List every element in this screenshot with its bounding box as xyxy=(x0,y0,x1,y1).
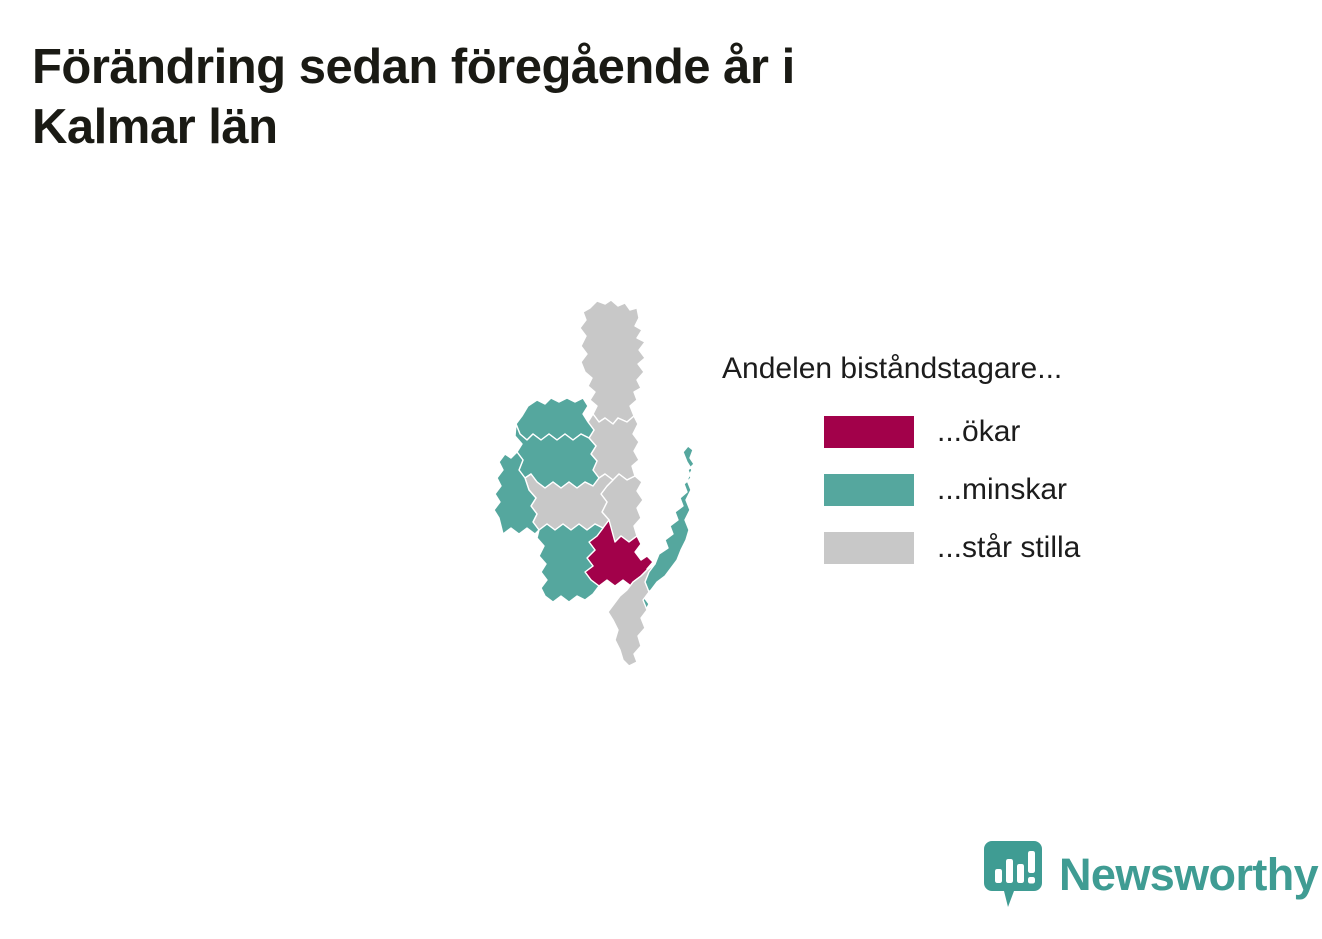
legend-swatch-star-stilla xyxy=(824,532,914,564)
newsworthy-wordmark: Newsworthy xyxy=(1059,852,1318,897)
page-title: Förändring sedan föregående år i Kalmar … xyxy=(32,38,1132,158)
legend-item-minskar[interactable]: ...minskar xyxy=(722,461,1242,519)
map-svg xyxy=(487,288,727,668)
legend-swatch-minskar xyxy=(824,474,914,506)
choropleth-map xyxy=(487,288,727,668)
map-region-vimmerby[interactable] xyxy=(516,398,594,440)
newsworthy-logo[interactable]: Newsworthy xyxy=(984,841,1318,907)
legend-item-okar[interactable]: ...ökar xyxy=(722,403,1242,461)
legend-label-minskar: ...minskar xyxy=(937,475,1067,505)
map-region-nybro[interactable] xyxy=(525,474,613,530)
legend-item-star-stilla[interactable]: ...står stilla xyxy=(722,519,1242,577)
map-legend: Andelen biståndstagare... ...ökar ...min… xyxy=(722,352,1242,577)
map-region-vastervik[interactable] xyxy=(580,300,645,424)
legend-title: Andelen biståndstagare... xyxy=(722,352,1242,385)
legend-swatch-okar xyxy=(824,416,914,448)
legend-label-okar: ...ökar xyxy=(937,417,1020,447)
legend-label-star-stilla: ...står stilla xyxy=(937,533,1080,563)
speech-bubble-bar-chart-icon xyxy=(984,841,1042,907)
